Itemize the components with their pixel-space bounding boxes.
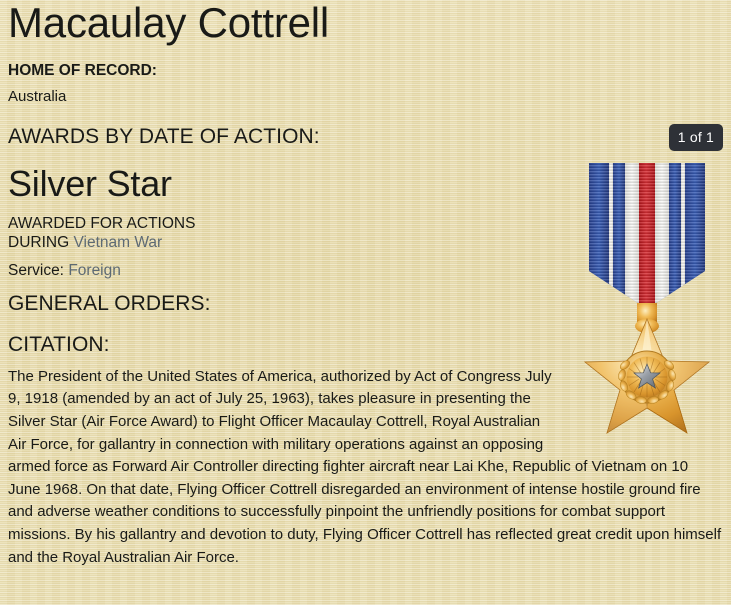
home-of-record-label: HOME OF RECORD: — [6, 62, 725, 81]
during-label: DURING — [8, 234, 69, 251]
page-title: Macaulay Cottrell — [6, 0, 725, 44]
awards-by-date-heading: AWARDS BY DATE OF ACTION: — [6, 124, 725, 149]
award-record-page: 1 of 1 Macaulay Cottrell HOME OF RECORD:… — [0, 0, 731, 605]
service-value-link[interactable]: Foreign — [68, 262, 121, 279]
pager-badge: 1 of 1 — [669, 124, 723, 151]
conflict-link[interactable]: Vietnam War — [73, 234, 162, 251]
silver-star-medal-image — [573, 159, 721, 451]
home-of-record-value: Australia — [6, 87, 725, 107]
service-label: Service: — [8, 262, 64, 279]
